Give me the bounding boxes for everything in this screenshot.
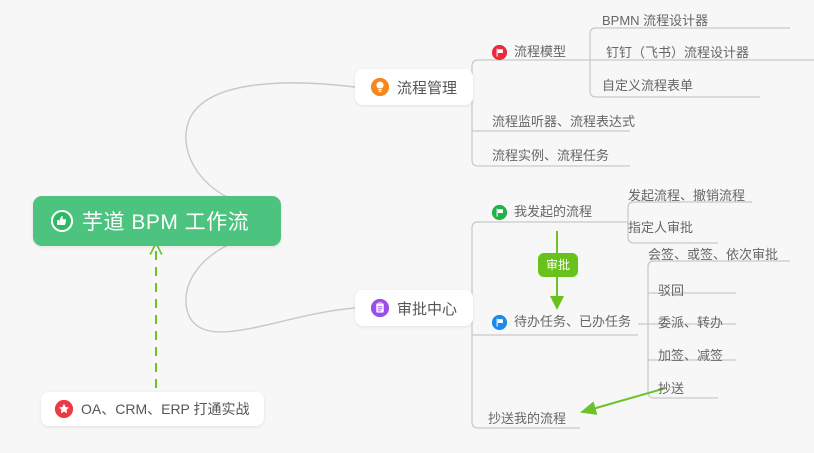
approval-badge[interactable]: 审批 bbox=[538, 253, 578, 277]
node-delegate-transfer[interactable]: 委派、转办 bbox=[658, 315, 723, 331]
edge-pm-to-process-model bbox=[472, 60, 578, 66]
edge-ac-to-my-initiated bbox=[472, 222, 618, 228]
branch-node-process-management[interactable]: 流程管理 bbox=[355, 69, 473, 105]
node-process-listener-expression[interactable]: 流程监听器、流程表达式 bbox=[492, 114, 635, 130]
edge-root-to-process-management bbox=[186, 83, 355, 212]
node-reject[interactable]: 驳回 bbox=[658, 283, 684, 299]
node-dingtalk-feishu-designer[interactable]: 钉钉（飞书）流程设计器 bbox=[606, 45, 749, 61]
mindmap-canvas: 芋道 BPM 工作流 流程管理 流程模型 BPMN 流程设计器 钉钉（飞书）流程… bbox=[0, 0, 814, 453]
flag-icon-red bbox=[492, 45, 507, 60]
node-add-remove-sign[interactable]: 加签、减签 bbox=[658, 348, 723, 364]
edge-mine-to-assignee bbox=[628, 237, 718, 243]
node-process-instance-task[interactable]: 流程实例、流程任务 bbox=[492, 148, 609, 164]
branch-label-process-management: 流程管理 bbox=[397, 77, 457, 98]
branch-node-approval-center[interactable]: 审批中心 bbox=[355, 290, 473, 326]
node-todo-done-tasks[interactable]: 待办任务、已办任务 bbox=[492, 314, 631, 330]
root-label: 芋道 BPM 工作流 bbox=[82, 206, 249, 236]
footer-node-oa-crm-erp[interactable]: OA、CRM、ERP 打通实战 bbox=[41, 392, 264, 426]
node-process-model[interactable]: 流程模型 bbox=[492, 44, 566, 60]
root-node[interactable]: 芋道 BPM 工作流 bbox=[33, 196, 281, 246]
flag-icon-green bbox=[492, 205, 507, 220]
footer-node-label: OA、CRM、ERP 打通实战 bbox=[81, 399, 250, 419]
node-bpmn-designer[interactable]: BPMN 流程设计器 bbox=[602, 13, 708, 29]
flag-icon-blue bbox=[492, 315, 507, 330]
node-label-todo-done-tasks: 待办任务、已办任务 bbox=[514, 314, 631, 330]
node-my-initiated-process[interactable]: 我发起的流程 bbox=[492, 204, 592, 220]
node-start-cancel-process[interactable]: 发起流程、撤销流程 bbox=[628, 188, 745, 204]
node-countersign-orsign-sequential[interactable]: 会签、或签、依次审批 bbox=[648, 247, 778, 263]
lightbulb-icon bbox=[371, 78, 389, 96]
node-assignee-approval[interactable]: 指定人审批 bbox=[628, 220, 693, 236]
node-custom-process-form[interactable]: 自定义流程表单 bbox=[602, 78, 693, 94]
node-label-my-initiated-process: 我发起的流程 bbox=[514, 204, 592, 220]
arrow-cc-to-ccme bbox=[582, 388, 666, 412]
node-cc[interactable]: 抄送 bbox=[658, 381, 684, 397]
node-cc-to-me-process[interactable]: 抄送我的流程 bbox=[488, 411, 566, 427]
thumbs-up-icon bbox=[51, 210, 73, 232]
star-icon bbox=[55, 400, 73, 418]
node-label-process-model: 流程模型 bbox=[514, 44, 566, 60]
clipboard-icon bbox=[371, 299, 389, 317]
branch-label-approval-center: 审批中心 bbox=[397, 298, 457, 319]
